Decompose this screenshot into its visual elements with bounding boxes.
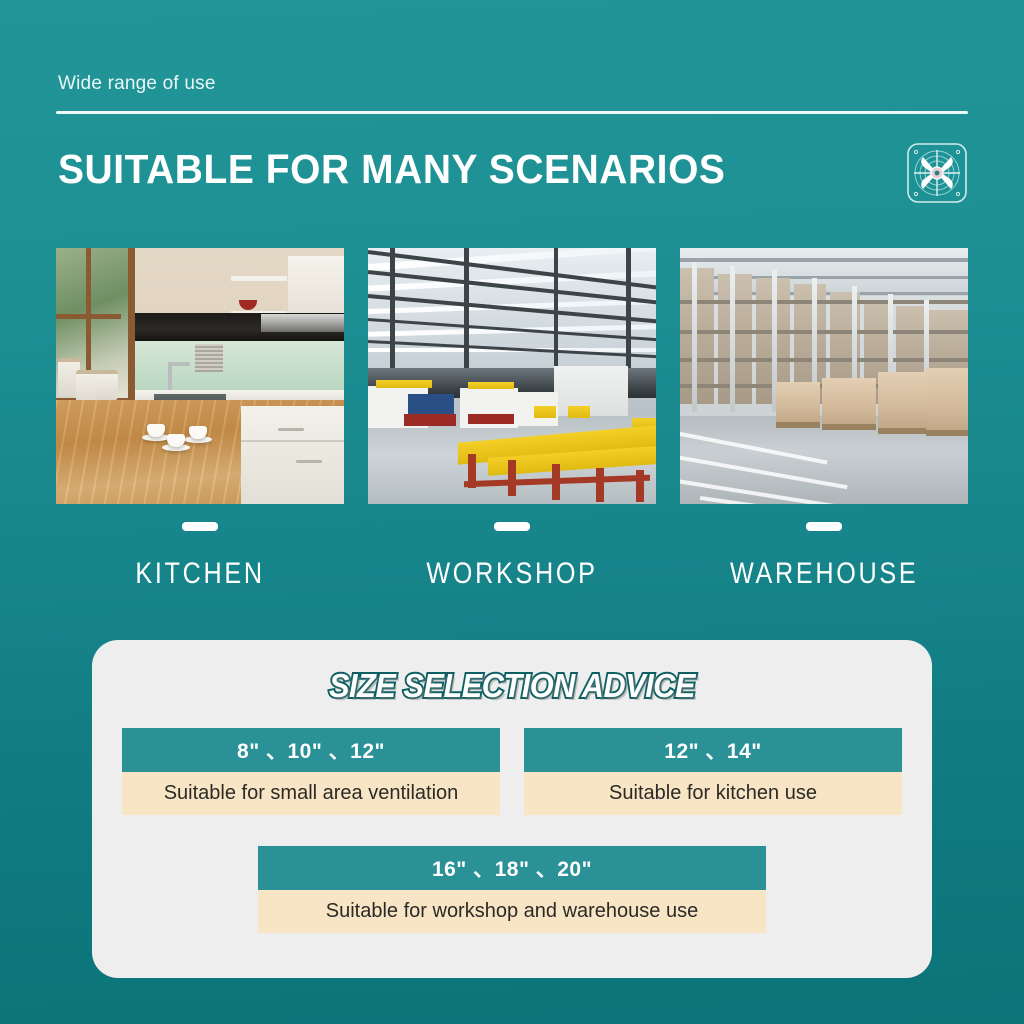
dash-marker-icon (494, 522, 530, 531)
size-advice-card: SIZE SELECTION ADVICE 8" 、10" 、12" Suita… (92, 640, 932, 978)
scenario-label-workshop: WORKSHOP (368, 518, 656, 614)
scenario-label-text: WORKSHOP (426, 557, 597, 591)
size-advice-item-3: 16" 、18" 、20" Suitable for workshop and … (258, 846, 766, 933)
infographic-page: Wide range of use SUITABLE FOR MANY SCEN… (0, 0, 1024, 1024)
scenario-label-kitchen: KITCHEN (56, 518, 344, 614)
scenario-label-text: KITCHEN (135, 557, 264, 591)
eyebrow-text: Wide range of use (58, 73, 216, 95)
size-advice-row-bottom: 16" 、18" 、20" Suitable for workshop and … (92, 846, 932, 933)
header-divider (56, 111, 968, 114)
size-advice-item-2: 12" 、14" Suitable for kitchen use (524, 728, 902, 815)
size-advice-title: SIZE SELECTION ADVICE (121, 667, 902, 705)
dash-marker-icon (806, 522, 842, 531)
size-advice-sizes: 12" 、14" (524, 728, 902, 772)
scenario-label-warehouse: WAREHOUSE (680, 518, 968, 614)
size-advice-description: Suitable for workshop and warehouse use (258, 890, 766, 933)
size-advice-description: Suitable for kitchen use (524, 772, 902, 815)
scenario-image-warehouse (680, 248, 968, 504)
scenario-image-row (56, 248, 968, 504)
scenario-image-kitchen (56, 248, 344, 504)
dash-marker-icon (182, 522, 218, 531)
size-advice-description: Suitable for small area ventilation (122, 772, 500, 815)
fan-logo-icon (906, 142, 968, 204)
size-advice-sizes: 8" 、10" 、12" (122, 728, 500, 772)
scenario-image-workshop (368, 248, 656, 504)
size-advice-item-1: 8" 、10" 、12" Suitable for small area ven… (122, 728, 500, 815)
scenario-label-text: WAREHOUSE (730, 557, 918, 591)
page-title: SUITABLE FOR MANY SCENARIOS (58, 146, 725, 193)
scenario-label-row: KITCHEN WORKSHOP WAREHOUSE (56, 518, 968, 614)
size-advice-row-top: 8" 、10" 、12" Suitable for small area ven… (122, 728, 902, 815)
size-advice-sizes: 16" 、18" 、20" (258, 846, 766, 890)
